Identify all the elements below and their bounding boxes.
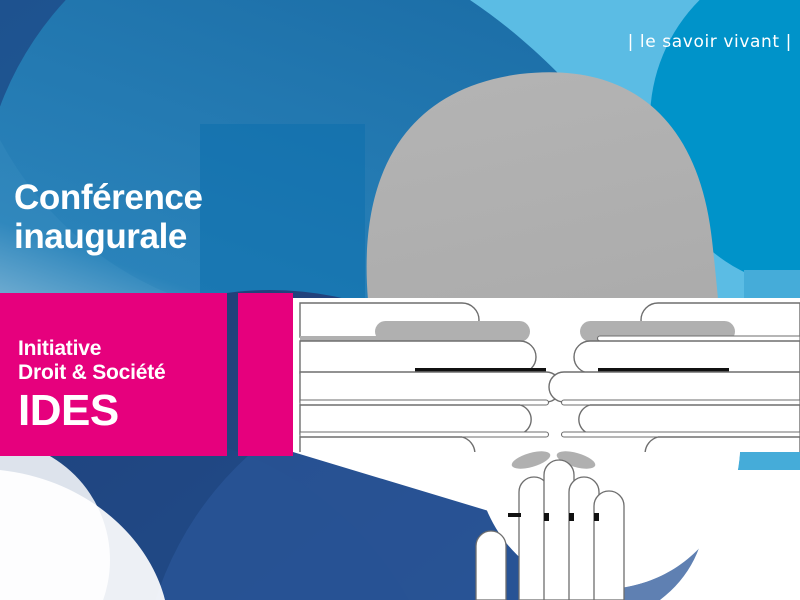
brand-line-droit-societe: Droit & Société <box>18 361 166 385</box>
tagline: | le savoir vivant | <box>628 32 792 52</box>
brand-acronym: IDES <box>18 388 166 434</box>
brand-block: Initiative Droit & Société IDES <box>18 337 166 434</box>
translucent-blue-square <box>200 124 365 304</box>
brand-line-initiative: Initiative <box>18 337 166 361</box>
nose-mark-a <box>508 513 521 517</box>
nose-mark-c <box>569 513 574 521</box>
conference-title-slide: | le savoir vivant | Conférence inaugura… <box>0 0 800 600</box>
nose-mark-d <box>594 513 599 521</box>
background-artwork <box>0 0 800 600</box>
magenta-box-strip <box>238 293 293 456</box>
nose-mark-b <box>544 513 549 521</box>
page-title: Conférence inaugurale <box>14 178 203 256</box>
